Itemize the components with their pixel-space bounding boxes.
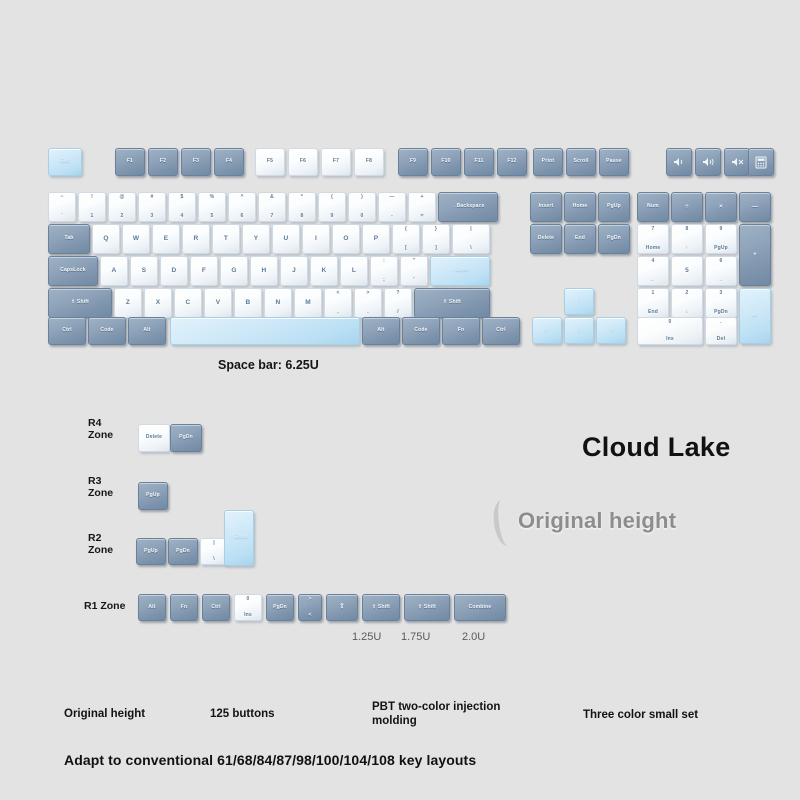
key-legend: A <box>112 268 117 275</box>
key-legend: W <box>133 236 139 243</box>
key-legend-bottom: 4 <box>169 214 195 219</box>
key-legend: Delete <box>538 236 554 241</box>
key-legend-bottom: 7 <box>259 214 285 219</box>
key-legend: Ctrl <box>496 328 505 333</box>
key-alt[interactable]: Alt <box>128 317 166 345</box>
key-legend-top: | <box>453 227 489 232</box>
key-tab[interactable]: Tab <box>48 224 90 254</box>
key-legend: CapsLock <box>60 268 86 273</box>
key-legend-top: % <box>199 195 225 200</box>
key-shift[interactable]: ⇧ Shift <box>404 594 450 621</box>
key-v[interactable]: V <box>204 288 232 318</box>
key-pause[interactable]: Pause <box>599 148 629 176</box>
key-legend-bottom: / <box>385 310 411 315</box>
key-legend: PgDn <box>607 236 621 241</box>
key-legend: Tab <box>64 236 73 241</box>
key-9[interactable]: (9 <box>318 192 346 222</box>
key-f12[interactable]: F12 <box>497 148 527 176</box>
key-legend-bottom: ; <box>371 278 397 283</box>
key-q[interactable]: Q <box>92 224 120 254</box>
key-legend: PgUp <box>146 493 160 498</box>
key-legend-bottom: 1 <box>79 214 105 219</box>
key-legend-top: ^ <box>229 195 255 200</box>
key-n[interactable]: N <box>264 288 292 318</box>
key-sym[interactable]: ⇧ <box>326 594 358 621</box>
key-legend-bottom: ` <box>49 214 75 219</box>
footer-cell-0: Original height <box>64 707 204 721</box>
key-legend-top: — <box>379 195 405 200</box>
key-legend: Combine <box>469 605 492 610</box>
key-capslock[interactable]: CapsLock <box>48 256 98 286</box>
key-legend: J <box>292 268 296 275</box>
key-legend-top: ) <box>349 195 375 200</box>
key-legend: ⇧ Shift <box>443 300 461 305</box>
key-w[interactable]: W <box>122 224 150 254</box>
key-legend: Fn <box>458 328 465 333</box>
key-ins[interactable]: 0Ins <box>234 594 262 621</box>
key-legend-bottom: = <box>409 214 435 219</box>
key-legend: PgDn <box>273 605 287 610</box>
key-legend-bottom: 8 <box>289 214 315 219</box>
key-legend: Scroll <box>573 159 588 164</box>
key-end[interactable]: 1End <box>637 288 669 318</box>
key-home[interactable]: 7Home <box>637 224 669 254</box>
key-legend-top: 3 <box>706 291 736 296</box>
key-enter[interactable]: ←Enter <box>430 256 490 286</box>
key-fn[interactable]: Fn <box>170 594 198 621</box>
key-t[interactable]: T <box>212 224 240 254</box>
key-shift[interactable]: ⇧ Shift <box>362 594 400 621</box>
key-sym[interactable]: ← <box>532 317 562 344</box>
key-g[interactable]: G <box>220 256 248 286</box>
key-legend-bottom: PgUp <box>706 246 736 251</box>
key-sym[interactable]: 2↓ <box>671 288 703 318</box>
key-sym[interactable]: }] <box>422 224 450 254</box>
key-legend: F7 <box>333 159 339 164</box>
key-legend-bottom: PgDn <box>706 310 736 315</box>
key-pgdn[interactable]: PgDn <box>170 424 202 452</box>
product-image-canvas: EscF1F2F3F4F5F6F7F8F9F10F11F12PrintScrol… <box>0 0 800 800</box>
key-legend-top: 4 <box>638 259 668 264</box>
key-f[interactable]: F <box>190 256 218 286</box>
key-sym[interactable]: ↑ <box>564 288 594 315</box>
footer-cell-3: Three color small set <box>583 708 753 722</box>
key-legend-bottom: Del <box>706 337 736 342</box>
key-legend: S <box>142 268 147 275</box>
key-pgdn[interactable]: PgDn <box>598 224 630 254</box>
key-end[interactable]: End <box>564 224 596 254</box>
key-legend: F <box>202 268 206 275</box>
key-sym[interactable]: 8↑ <box>671 224 703 254</box>
key-4[interactable]: $4 <box>168 192 196 222</box>
key-sym[interactable]: —- <box>378 192 406 222</box>
key-delete[interactable]: Delete <box>138 424 170 452</box>
key-legend: F9 <box>410 159 416 164</box>
key-legend: Fn <box>181 605 188 610</box>
key-7[interactable]: &7 <box>258 192 286 222</box>
vol-up-icon[interactable] <box>695 148 721 176</box>
key-legend: Code <box>100 328 113 333</box>
key-legend-top: @ <box>109 195 135 200</box>
key-6[interactable]: ^6 <box>228 192 256 222</box>
key-5[interactable]: %5 <box>198 192 226 222</box>
key-f7[interactable]: F7 <box>321 148 351 176</box>
key-ctrl[interactable]: Ctrl <box>202 594 230 621</box>
key-legend: Z <box>126 300 130 307</box>
key-legend: Pause <box>606 159 622 164</box>
key-sym[interactable]: → <box>596 317 626 344</box>
key-legend: G <box>231 268 236 275</box>
key-sym[interactable]: |\ <box>452 224 490 254</box>
key-fn[interactable]: Fn <box>442 317 480 345</box>
key-legend: V <box>216 300 221 307</box>
key-5[interactable]: 5 <box>671 256 703 286</box>
key-legend: K <box>322 268 327 275</box>
key-shift[interactable]: ⇧ Shift <box>414 288 490 318</box>
key-legend: ⇧ Shift <box>372 605 390 610</box>
key-legend: ↑ <box>577 298 580 305</box>
key-r[interactable]: R <box>182 224 210 254</box>
key-sym[interactable]: {[ <box>392 224 420 254</box>
key-legend: ⇧ Shift <box>418 605 436 610</box>
key-legend: 5 <box>685 268 689 275</box>
brand-subtitle: Original height <box>518 508 676 534</box>
key-legend: ← <box>544 327 551 334</box>
key-x[interactable]: X <box>144 288 172 318</box>
key-alt[interactable]: Alt <box>362 317 400 345</box>
key-3[interactable]: #3 <box>138 192 166 222</box>
key-legend-top: } <box>423 227 449 232</box>
zone-r4-line2: Zone <box>88 429 113 441</box>
key-f2[interactable]: F2 <box>148 148 178 176</box>
key-pgdn[interactable]: PgDn <box>266 594 294 621</box>
key-k[interactable]: K <box>310 256 338 286</box>
key-legend: F10 <box>441 159 450 164</box>
key-f1[interactable]: F1 <box>115 148 145 176</box>
key-legend-bottom: ↓ <box>672 310 702 315</box>
key-1[interactable]: !1 <box>78 192 106 222</box>
footer-compat-line: Adapt to conventional 61/68/84/87/98/100… <box>64 752 476 768</box>
key-legend: + <box>753 252 757 259</box>
key-legend-top: ( <box>319 195 345 200</box>
key-f6[interactable]: F6 <box>288 148 318 176</box>
key-legend: Y <box>254 236 259 243</box>
key-sym[interactable]: "' <box>400 256 428 286</box>
key-ctrl[interactable]: Ctrl <box>48 317 86 345</box>
key-legend-bottom: . <box>355 310 381 315</box>
key-legend-bottom: - <box>379 214 405 219</box>
key-legend: ⇧ Shift <box>71 300 89 305</box>
key-legend: F2 <box>160 159 166 164</box>
key-8[interactable]: *8 <box>288 192 316 222</box>
key-legend: PgDn <box>176 549 190 554</box>
key-legend-top: 0 <box>235 597 261 602</box>
key-legend-bottom: → <box>706 278 736 283</box>
key-legend: N <box>276 300 281 307</box>
key-sym[interactable]: ?/ <box>384 288 412 318</box>
key-legend: PgUp <box>607 204 621 209</box>
key-legend: I <box>315 236 317 243</box>
u-label-20: 2.0U <box>462 631 485 643</box>
key-pgdn[interactable]: 3PgDn <box>705 288 737 318</box>
key-sym[interactable]: + <box>739 224 771 286</box>
mute-icon[interactable] <box>724 148 750 176</box>
key-legend-top: 6 <box>706 259 736 264</box>
key-legend: End <box>575 236 585 241</box>
key-legend: F6 <box>300 159 306 164</box>
key-legend-top: & <box>259 195 285 200</box>
footer-cell-1: 125 buttons <box>210 707 330 721</box>
key-legend-top: " <box>401 259 427 264</box>
vol-down-icon[interactable] <box>666 148 692 176</box>
key-f11[interactable]: F11 <box>464 148 494 176</box>
key-legend: F3 <box>193 159 199 164</box>
key-pgup[interactable]: PgUp <box>138 482 168 510</box>
key-0[interactable]: )0 <box>348 192 376 222</box>
key-combine[interactable]: Combine <box>454 594 506 621</box>
key-legend-bottom: 5 <box>199 214 225 219</box>
key-legend: D <box>172 268 177 275</box>
key-sym[interactable]: 6→ <box>705 256 737 286</box>
key-legend: F12 <box>507 159 516 164</box>
u-label-175: 1.75U <box>401 631 430 643</box>
key-sym[interactable]: >. <box>354 288 382 318</box>
key-legend: Alt <box>148 605 155 610</box>
zone-label-r1: R1 Zone <box>84 600 125 612</box>
key-legend-bottom: 3 <box>139 214 165 219</box>
key-b[interactable]: B <box>234 288 262 318</box>
key-legend: × <box>719 204 723 211</box>
key-legend: — <box>752 204 759 211</box>
key-legend: Esc <box>60 159 70 164</box>
key-s[interactable]: S <box>130 256 158 286</box>
key-legend: O <box>343 236 348 243</box>
key-legend-bottom: [ <box>393 246 419 251</box>
zone-r4-line1: R4 <box>88 417 101 429</box>
key-legend: M <box>305 300 311 307</box>
key-2[interactable]: @2 <box>108 192 136 222</box>
key-legend-bottom: 9 <box>319 214 345 219</box>
key-legend: C <box>186 300 191 307</box>
key-f9[interactable]: F9 <box>398 148 428 176</box>
key-legend: Code <box>414 328 427 333</box>
key-legend: PgDn <box>179 435 193 440</box>
key-sym[interactable]: <, <box>324 288 352 318</box>
key-legend: E <box>164 236 169 243</box>
key-legend-top: 0 <box>638 320 702 325</box>
key-legend-top: < <box>325 291 351 296</box>
key-legend: F4 <box>226 159 232 164</box>
key-legend-top: + <box>409 195 435 200</box>
key-legend: Q <box>103 236 108 243</box>
key-legend: T <box>224 236 228 243</box>
key-sym[interactable]: += <box>408 192 436 222</box>
key-legend-bottom: ← <box>638 278 668 283</box>
key-ctrl[interactable]: Ctrl <box>482 317 520 345</box>
key-legend-top: > <box>299 597 321 602</box>
key-delete[interactable]: Delete <box>530 224 562 254</box>
key-legend: Print <box>542 159 554 164</box>
key-legend-top: { <box>393 227 419 232</box>
key-sym[interactable]: :; <box>370 256 398 286</box>
key-legend-top: 9 <box>706 227 736 232</box>
key-legend-bottom: Ins <box>235 613 261 618</box>
key-legend-top: # <box>139 195 165 200</box>
key-legend: U <box>284 236 289 243</box>
key-sym[interactable]: ~` <box>48 192 76 222</box>
key-num[interactable]: Num <box>637 192 669 222</box>
key-shift[interactable]: ⇧ Shift <box>48 288 112 318</box>
key-legend: L <box>352 268 356 275</box>
key-del[interactable]: .Del <box>705 317 737 345</box>
key-legend: R <box>194 236 199 243</box>
key-f3[interactable]: F3 <box>181 148 211 176</box>
key-backspace[interactable]: ←Backspace <box>438 192 498 222</box>
key-f5[interactable]: F5 <box>255 148 285 176</box>
key-legend: ←Enter <box>451 268 470 273</box>
key-z[interactable]: Z <box>114 288 142 318</box>
key-legend: Alt <box>143 328 150 333</box>
key-print[interactable]: Print <box>533 148 563 176</box>
key-legend: Ctrl <box>211 605 220 610</box>
key-i[interactable]: I <box>302 224 330 254</box>
key-legend-top: > <box>355 291 381 296</box>
key-blank[interactable] <box>170 317 360 345</box>
key-sym[interactable]: 4← <box>637 256 669 286</box>
key-legend: F11 <box>475 159 484 164</box>
key-p[interactable]: P <box>362 224 390 254</box>
key-legend-bottom: 2 <box>109 214 135 219</box>
key-pgup[interactable]: 9PgUp <box>705 224 737 254</box>
key-sym[interactable]: ↵ <box>739 288 771 344</box>
key-legend-top: . <box>706 320 736 325</box>
key-legend: ↓ <box>577 327 580 334</box>
key-legend: Home <box>573 204 588 209</box>
zone-r2-line1: R2 <box>88 532 101 544</box>
key-legend: ⇧ <box>339 604 345 611</box>
key-legend-bottom: < <box>299 613 321 618</box>
key-enter[interactable]: ←Enter <box>224 510 254 566</box>
u-label-125: 1.25U <box>352 631 381 643</box>
key-legend-top: 8 <box>672 227 702 232</box>
key-legend: B <box>246 300 251 307</box>
key-h[interactable]: H <box>250 256 278 286</box>
key-f10[interactable]: F10 <box>431 148 461 176</box>
key-code[interactable]: Code <box>402 317 440 345</box>
key-ins[interactable]: 0Ins <box>637 317 703 345</box>
key-legend: Alt <box>377 328 384 333</box>
swoosh-decoration <box>491 499 518 547</box>
zone-r3-line1: R3 <box>88 475 101 487</box>
key-legend-top: : <box>371 259 397 264</box>
key-legend-bottom: ] <box>423 246 449 251</box>
key-sym[interactable]: ↓ <box>564 317 594 344</box>
key-legend: → <box>608 327 615 334</box>
key-pgup[interactable]: PgUp <box>598 192 630 222</box>
key-legend: H <box>262 268 267 275</box>
key-pgdn[interactable]: PgDn <box>168 538 198 565</box>
key-legend: Delete <box>146 435 162 440</box>
spacebar-caption: Space bar: 6.25U <box>218 358 319 372</box>
key-legend: F8 <box>366 159 372 164</box>
key-legend-top: ! <box>79 195 105 200</box>
key-l[interactable]: L <box>340 256 368 286</box>
key-legend-top: $ <box>169 195 195 200</box>
key-m[interactable]: M <box>294 288 322 318</box>
key-legend: P <box>374 236 379 243</box>
key-legend-top: 2 <box>672 291 702 296</box>
key-sym[interactable]: ÷ <box>671 192 703 222</box>
brand-name: Cloud Lake <box>582 432 731 463</box>
key-insert[interactable]: Insert <box>530 192 562 222</box>
footer-cell-2: PBT two-color injection molding <box>372 700 532 729</box>
key-f4[interactable]: F4 <box>214 148 244 176</box>
key-d[interactable]: D <box>160 256 188 286</box>
key-legend-bottom: ↑ <box>672 246 702 251</box>
key-legend-bottom: 0 <box>349 214 375 219</box>
key-sym[interactable]: × <box>705 192 737 222</box>
key-legend: Insert <box>539 204 554 209</box>
key-code[interactable]: Code <box>88 317 126 345</box>
key-o[interactable]: O <box>332 224 360 254</box>
key-u[interactable]: U <box>272 224 300 254</box>
key-f8[interactable]: F8 <box>354 148 384 176</box>
key-e[interactable]: E <box>152 224 180 254</box>
key-legend-top: 7 <box>638 227 668 232</box>
key-home[interactable]: Home <box>564 192 596 222</box>
key-c[interactable]: C <box>174 288 202 318</box>
key-legend-top: ? <box>385 291 411 296</box>
key-legend: Num <box>647 204 659 209</box>
key-alt[interactable]: Alt <box>138 594 166 621</box>
key-legend: ↵ <box>752 313 758 320</box>
key-legend: Ctrl <box>62 328 71 333</box>
zone-label-r4: R4 Zone <box>88 417 113 441</box>
calculator-icon[interactable] <box>748 148 774 176</box>
key-legend-top: * <box>289 195 315 200</box>
key-legend-bottom: 6 <box>229 214 255 219</box>
zone-r2-line2: Zone <box>88 544 113 556</box>
zone-label-r3: R3 Zone <box>88 475 113 499</box>
key-legend-bottom: \ <box>453 246 489 251</box>
key-legend: ÷ <box>685 204 689 211</box>
key-legend-bottom: , <box>325 310 351 315</box>
key-a[interactable]: A <box>100 256 128 286</box>
key-legend-bottom: Home <box>638 246 668 251</box>
key-legend-bottom: Ins <box>638 337 702 342</box>
key-legend-top: 1 <box>638 291 668 296</box>
key-sym[interactable]: — <box>739 192 771 222</box>
key-legend: X <box>156 300 161 307</box>
key-legend: PgUp <box>144 549 158 554</box>
key-esc[interactable]: Esc <box>48 148 82 176</box>
key-scroll[interactable]: Scroll <box>566 148 596 176</box>
key-legend-bottom: ' <box>401 278 427 283</box>
key-j[interactable]: J <box>280 256 308 286</box>
key-legend-top: ~ <box>49 195 75 200</box>
key-y[interactable]: Y <box>242 224 270 254</box>
key-legend: F1 <box>127 159 133 164</box>
key-legend: F5 <box>267 159 273 164</box>
key-legend-bottom: End <box>638 310 668 315</box>
zone-label-r2: R2 Zone <box>88 532 113 556</box>
zone-r3-line2: Zone <box>88 487 113 499</box>
key-pgup[interactable]: PgUp <box>136 538 166 565</box>
key-legend: ←Enter <box>230 535 249 540</box>
key-sym[interactable]: >< <box>298 594 322 621</box>
key-legend: ←Backspace <box>451 204 484 209</box>
